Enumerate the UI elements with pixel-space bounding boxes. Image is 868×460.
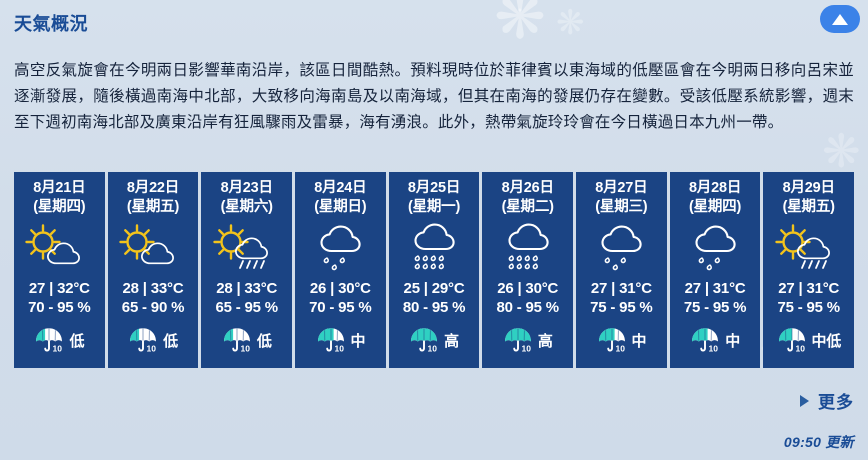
forecast-day-card[interactable]: 8月21日(星期四) 27 | 32°C70 - 95 % 10 低 [14, 172, 105, 368]
forecast-temperature: 26 | 30°C [310, 279, 371, 298]
forecast-temperature: 25 | 29°C [404, 279, 465, 298]
forecast-temperature: 26 | 30°C [497, 279, 558, 298]
forecast-temperature: 27 | 32°C [29, 279, 90, 298]
psr-level: 中 [725, 330, 740, 351]
forecast-date: 8月28日 [689, 179, 741, 198]
sun-behind-cloud-icon [111, 219, 195, 279]
more-label: 更多 [818, 388, 854, 413]
cloud-light-rain-icon [298, 219, 382, 279]
collapse-button[interactable] [820, 5, 860, 33]
forecast-date: 8月24日 [314, 179, 366, 198]
svg-text:10: 10 [428, 344, 438, 354]
umbrella-icon: 10 [316, 326, 346, 354]
forecast-weekday: (星期二) [502, 198, 554, 217]
umbrella-icon: 10 [690, 326, 720, 354]
psr-level: 高 [444, 330, 459, 351]
psr-row: 10 低 [222, 326, 272, 354]
psr-row: 10 中 [316, 326, 366, 354]
snowflake-watermark-icon: ❋ [494, 0, 546, 48]
forecast-date: 8月23日 [221, 179, 273, 198]
forecast-temperature: 28 | 33°C [216, 279, 277, 298]
umbrella-icon: 10 [409, 326, 439, 354]
forecast-weekday: (星期六) [221, 198, 273, 217]
forecast-date: 8月27日 [595, 179, 647, 198]
forecast-weekday: (星期四) [689, 198, 741, 217]
forecast-weekday: (星期五) [127, 198, 179, 217]
psr-level: 中 [632, 330, 647, 351]
forecast-temperature: 27 | 31°C [685, 279, 746, 298]
psr-row: 10 中 [690, 326, 740, 354]
psr-level: 低 [69, 330, 84, 351]
svg-text:10: 10 [521, 344, 531, 354]
forecast-humidity: 80 - 95 % [403, 298, 465, 317]
psr-row: 10 中 [597, 326, 647, 354]
psr-level: 中低 [812, 330, 841, 351]
forecast-day-card[interactable]: 8月22日(星期五) 28 | 33°C65 - 90 % 10 低 [108, 172, 199, 368]
weather-summary-text: 高空反氣旋會在今明兩日影響華南沿岸，該區日間酷熱。預料現時位於菲律賓以東海域的低… [14, 58, 854, 136]
forecast-weekday: (星期四) [33, 198, 85, 217]
more-link[interactable]: 更多 [800, 388, 854, 413]
forecast-temperature: 27 | 31°C [591, 279, 652, 298]
svg-text:10: 10 [147, 344, 157, 354]
forecast-humidity: 80 - 95 % [496, 298, 558, 317]
psr-level: 低 [163, 330, 178, 351]
forecast-humidity: 70 - 95 % [309, 298, 371, 317]
cloud-light-rain-icon [673, 219, 757, 279]
snowflake-watermark-icon: ❋ [556, 6, 585, 40]
forecast-humidity: 75 - 95 % [684, 298, 746, 317]
triangle-up-icon [832, 14, 848, 25]
umbrella-icon: 10 [503, 326, 533, 354]
umbrella-icon: 10 [777, 326, 807, 354]
forecast-day-card[interactable]: 8月24日(星期日) 26 | 30°C70 - 95 % 10 中 [295, 172, 386, 368]
cloud-heavy-rain-icon [486, 219, 570, 279]
forecast-day-card[interactable]: 8月26日(星期二) 26 | 30°C80 - 95 % 10 高 [482, 172, 573, 368]
triangle-right-icon [800, 395, 809, 407]
nine-day-forecast-strip: 8月21日(星期四) 27 | 32°C70 - 95 % 10 低8月22日(… [14, 172, 854, 368]
forecast-weekday: (星期三) [595, 198, 647, 217]
cloud-heavy-rain-icon [392, 219, 476, 279]
forecast-day-card[interactable]: 8月23日(星期六) 28 | 33°C65 - 95 % 10 低 [201, 172, 292, 368]
umbrella-icon: 10 [34, 326, 64, 354]
psr-row: 10 高 [503, 326, 553, 354]
forecast-humidity: 70 - 95 % [28, 298, 90, 317]
svg-text:10: 10 [795, 344, 805, 354]
forecast-day-card[interactable]: 8月25日(星期一) 25 | 29°C80 - 95 % 10 高 [389, 172, 480, 368]
forecast-date: 8月22日 [127, 179, 179, 198]
forecast-date: 8月29日 [783, 179, 835, 198]
forecast-date: 8月26日 [502, 179, 554, 198]
forecast-day-card[interactable]: 8月27日(星期三) 27 | 31°C75 - 95 % 10 中 [576, 172, 667, 368]
svg-text:10: 10 [334, 344, 344, 354]
forecast-day-card[interactable]: 8月28日(星期四) 27 | 31°C75 - 95 % 10 中 [670, 172, 761, 368]
forecast-weekday: (星期一) [408, 198, 460, 217]
update-timestamp: 09:50 更新 [784, 432, 854, 452]
forecast-weekday: (星期五) [783, 198, 835, 217]
cloud-light-rain-icon [579, 219, 663, 279]
svg-text:10: 10 [709, 344, 719, 354]
psr-row: 10 中低 [777, 326, 841, 354]
forecast-weekday: (星期日) [314, 198, 366, 217]
psr-level: 高 [538, 330, 553, 351]
forecast-humidity: 65 - 95 % [215, 298, 277, 317]
forecast-temperature: 28 | 33°C [123, 279, 184, 298]
weather-summary-panel: ❋ ❋ ❋ ❋ 天氣概況 高空反氣旋會在今明兩日影響華南沿岸，該區日間酷熱。預料… [0, 0, 868, 460]
umbrella-icon: 10 [597, 326, 627, 354]
forecast-humidity: 75 - 95 % [778, 298, 840, 317]
psr-row: 10 高 [409, 326, 459, 354]
svg-text:10: 10 [53, 344, 63, 354]
forecast-date: 8月21日 [33, 179, 85, 198]
sun-behind-rain-cloud-icon [767, 219, 851, 279]
sun-behind-rain-cloud-icon [205, 219, 289, 279]
umbrella-icon: 10 [222, 326, 252, 354]
umbrella-icon: 10 [128, 326, 158, 354]
psr-level: 低 [257, 330, 272, 351]
forecast-day-card[interactable]: 8月29日(星期五) 27 | 31°C75 - 95 % 10 中低 [763, 172, 854, 368]
page-title: 天氣概況 [14, 10, 88, 36]
svg-text:10: 10 [615, 344, 625, 354]
forecast-humidity: 75 - 95 % [590, 298, 652, 317]
forecast-humidity: 65 - 90 % [122, 298, 184, 317]
forecast-temperature: 27 | 31°C [778, 279, 839, 298]
forecast-date: 8月25日 [408, 179, 460, 198]
svg-text:10: 10 [240, 344, 250, 354]
psr-row: 10 低 [128, 326, 178, 354]
psr-level: 中 [351, 330, 366, 351]
psr-row: 10 低 [34, 326, 84, 354]
sun-behind-cloud-icon [17, 219, 101, 279]
